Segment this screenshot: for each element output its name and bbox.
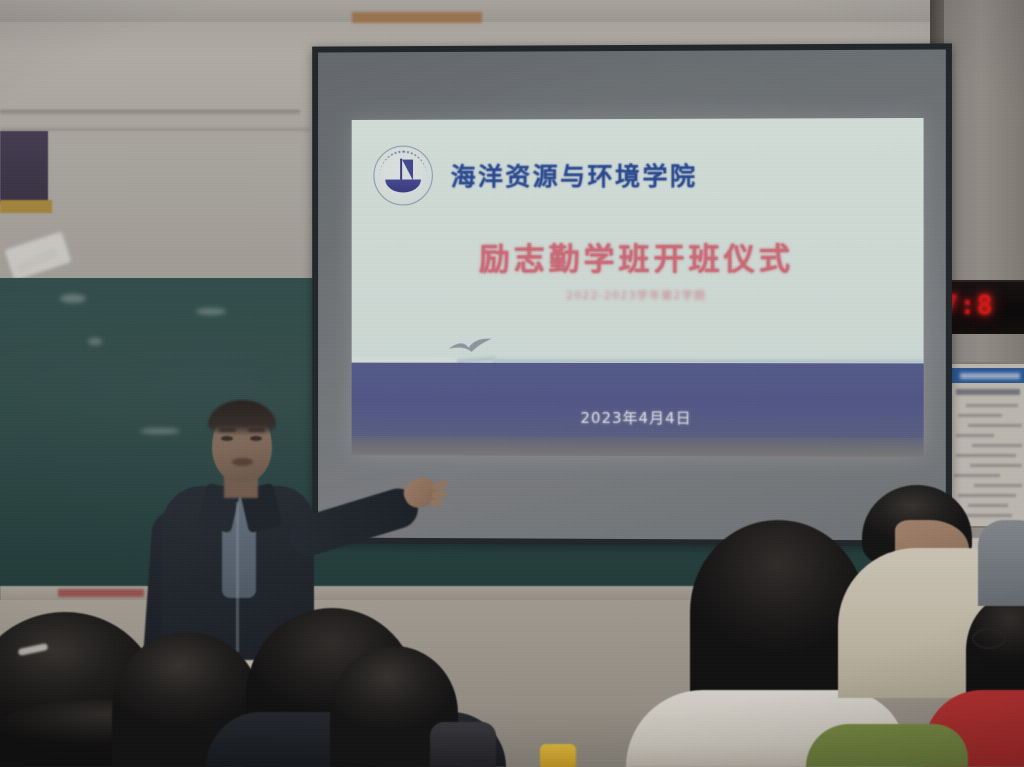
- chalk-smudge: [60, 294, 86, 303]
- presenter-eyebrow: [219, 428, 236, 432]
- presenter-eye: [250, 436, 262, 441]
- presenter-mouth: [232, 458, 253, 466]
- wave-line: [352, 360, 459, 362]
- chalk-smudge: [88, 338, 102, 345]
- notice-text-line: [974, 484, 1022, 487]
- presenter-finger: [432, 490, 448, 499]
- slide-subtitle: 2022-2023学年第2学期: [352, 287, 924, 303]
- wall-notice-board: [948, 362, 1024, 528]
- wall-yellow-strip: [0, 200, 52, 213]
- presenter-eyebrow: [248, 428, 265, 432]
- student-right-green: [806, 724, 968, 767]
- notice-text-line: [956, 434, 994, 437]
- ceiling-tape-strip: [352, 12, 482, 23]
- notice-header-text: [960, 373, 1020, 379]
- presenter-finger: [430, 500, 443, 507]
- chalk-tray-item: [58, 589, 144, 597]
- sailboat-emblem-icon: [373, 146, 432, 206]
- yellow-cup: [540, 744, 576, 767]
- wall-panel: [0, 131, 48, 203]
- notice-text-line: [958, 414, 1002, 417]
- classroom-photo: 7:8 - - -: [0, 0, 1024, 767]
- emblem-sail: [400, 160, 413, 181]
- student-far-right-gray: [978, 520, 1024, 606]
- presenter-eye: [221, 436, 233, 441]
- notice-text-line: [966, 404, 1018, 407]
- chalk-smudge: [196, 308, 226, 315]
- notice-text-line: [958, 494, 1016, 497]
- emblem-hull: [385, 179, 421, 192]
- ceiling-strip: [0, 0, 1024, 22]
- notice-text-line: [968, 504, 1008, 507]
- notice-text-line: [972, 444, 1022, 447]
- student-arm: [430, 722, 496, 767]
- presenter-jacket-zip: [236, 502, 239, 652]
- notice-text-line: [968, 424, 1022, 427]
- notice-title-bar: [956, 389, 1020, 395]
- notice-text-line: [954, 474, 1000, 477]
- wall-seam: [0, 110, 300, 115]
- notice-text-line: [970, 464, 1022, 467]
- notice-text-line: [956, 454, 1016, 457]
- presenter-right-arm: [285, 484, 423, 561]
- notice-header: [950, 368, 1024, 383]
- slide-title: 励志勤学班开班仪式: [352, 234, 924, 279]
- eyeglasses-icon: [972, 628, 1006, 649]
- slide-organization-name: 海洋资源与环境学院: [451, 157, 698, 194]
